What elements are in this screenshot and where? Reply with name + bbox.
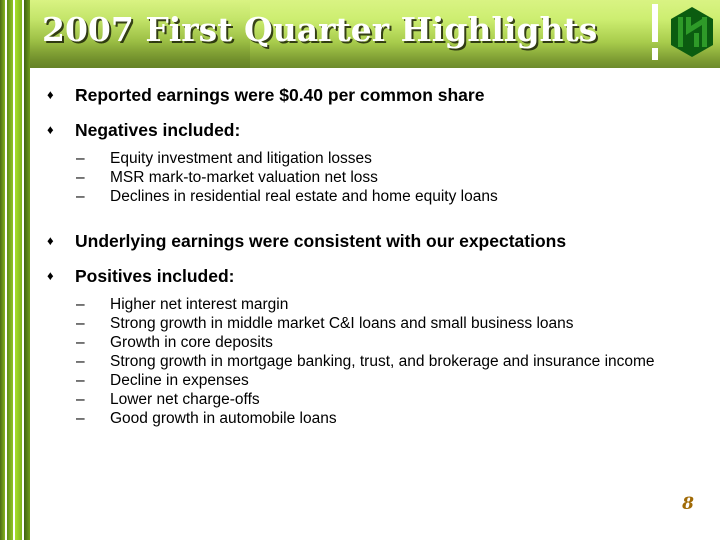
spacer (0, 252, 720, 265)
sub-bullet-text: Lower net charge-offs (110, 391, 260, 408)
bullet-item: ♦ Positives included: (0, 265, 720, 287)
sub-bullet-item: – Decline in expenses (0, 371, 720, 390)
page-title: 2007 First Quarter Highlights (42, 8, 597, 52)
presentation-slide: 2007 First Quarter Highlights ♦ Repor (0, 0, 720, 540)
sub-bullet-text: Declines in residential real estate and … (110, 188, 498, 205)
sub-bullet-text: Decline in expenses (110, 372, 249, 389)
sub-bullet-item: – Good growth in automobile loans (0, 409, 720, 428)
sub-bullet-item: – Higher net interest margin (0, 295, 720, 314)
sub-bullet-item: – Lower net charge-offs (0, 390, 720, 409)
dash-bullet-icon: – (76, 409, 85, 428)
dash-bullet-icon: – (76, 314, 85, 333)
sub-bullet-item: – Strong growth in middle market C&I loa… (0, 314, 720, 333)
spacer (0, 141, 720, 149)
sub-bullet-list: – Equity investment and litigation losse… (0, 149, 720, 206)
sub-bullet-text: Equity investment and litigation losses (110, 150, 372, 167)
diamond-bullet-icon: ♦ (47, 119, 54, 141)
bullet-text: Negatives included: (75, 120, 240, 140)
dash-bullet-icon: – (76, 295, 85, 314)
spacer (0, 206, 720, 222)
sub-bullet-item: – Declines in residential real estate an… (0, 187, 720, 206)
spacer (0, 106, 720, 119)
dash-bullet-icon: – (76, 352, 85, 371)
hexagon-n-logo-icon (669, 6, 715, 58)
stripe-7 (24, 0, 30, 540)
stripe-5 (15, 0, 22, 540)
spacer (0, 222, 720, 230)
sub-bullet-item: – MSR mark-to-market valuation net loss (0, 168, 720, 187)
bullet-text: Reported earnings were $0.40 per common … (75, 85, 484, 105)
bullet-item: ♦ Reported earnings were $0.40 per commo… (0, 84, 720, 106)
sub-bullet-text: Growth in core deposits (110, 334, 273, 351)
exclamation-bar (652, 4, 658, 42)
spacer (0, 68, 720, 84)
diamond-bullet-icon: ♦ (47, 84, 54, 106)
bullet-text: Underlying earnings were consistent with… (75, 231, 566, 251)
spacer (0, 287, 720, 295)
exclamation-dot (652, 48, 658, 60)
dash-bullet-icon: – (76, 168, 85, 187)
bullet-item: ♦ Negatives included: (0, 119, 720, 141)
slide-body: ♦ Reported earnings were $0.40 per commo… (0, 68, 720, 540)
sub-bullet-text: Good growth in automobile loans (110, 410, 337, 427)
sub-bullet-text: Higher net interest margin (110, 296, 288, 313)
sub-bullet-item: – Equity investment and litigation losse… (0, 149, 720, 168)
left-stripe-band (0, 0, 30, 540)
diamond-bullet-icon: ♦ (47, 230, 54, 252)
dash-bullet-icon: – (76, 187, 85, 206)
dash-bullet-icon: – (76, 390, 85, 409)
diamond-bullet-icon: ♦ (47, 265, 54, 287)
dash-bullet-icon: – (76, 149, 85, 168)
bullet-text: Positives included: (75, 266, 234, 286)
sub-bullet-text: Strong growth in middle market C&I loans… (110, 315, 574, 332)
bullet-item: ♦ Underlying earnings were consistent wi… (0, 230, 720, 252)
sub-bullet-item: – Strong growth in mortgage banking, tru… (0, 352, 710, 371)
dash-bullet-icon: – (76, 371, 85, 390)
sub-bullet-item: – Growth in core deposits (0, 333, 720, 352)
page-number: 8 (682, 494, 694, 514)
dash-bullet-icon: – (76, 333, 85, 352)
sub-bullet-text: Strong growth in mortgage banking, trust… (110, 353, 655, 370)
sub-bullet-list: – Higher net interest margin – Strong gr… (0, 295, 720, 428)
sub-bullet-text: MSR mark-to-market valuation net loss (110, 169, 378, 186)
